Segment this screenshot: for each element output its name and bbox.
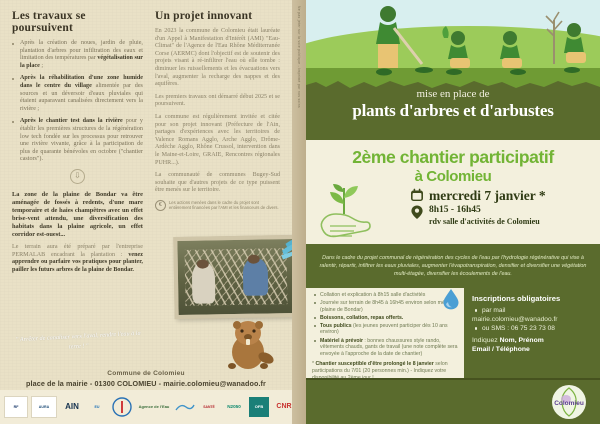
commune-name: Commune de Colomieu [0, 370, 292, 377]
context-paragraph: Dans le cadre du projet communal de régé… [316, 254, 590, 278]
poster: Les travaux se poursuivent Après la créa… [0, 0, 600, 424]
middle-paragraph: La communauté de communes Bugey-Sud souh… [155, 172, 280, 195]
logo-republique-francaise: RF [4, 396, 28, 418]
partner-logo-bar: RF AURA AIN EU Agence de l'Eau SANTÉ N20… [0, 390, 292, 424]
colomieu-logo: Colomieu [548, 382, 590, 422]
commune-contact: place de la mairie - 01300 COLOMIEU - ma… [0, 379, 292, 388]
registration-sms: ou SMS : 06 75 23 73 08 [472, 324, 594, 333]
middle-paragraph: La commune est régulièrement invitée et … [155, 114, 280, 167]
logo-bugey-sud [174, 397, 196, 417]
poster-spine: Ne pas jeter sur la voie publique - Impr… [292, 0, 306, 424]
photo-wrap [174, 236, 298, 318]
list-item: Matériel à prévoir : bonnes chaussures s… [312, 338, 458, 358]
funding-note-text: Les actions menées dans le cadre du proj… [169, 200, 280, 211]
registration-block: Inscriptions obligatoires par mail mairi… [464, 288, 600, 380]
banner-title-block: mise en place de plants d'arbres et d'ar… [306, 88, 600, 121]
left-column: Les travaux se poursuivent Après la créa… [6, 8, 151, 279]
event-time: 8h15 - 16h45 [429, 204, 540, 216]
registration-email[interactable]: mairie.colomieu@wanadoo.fr [472, 315, 594, 324]
logo-ain-departement: AIN [60, 397, 84, 417]
bondar-paragraph: La zone de la plaine de Bondar va être a… [12, 191, 143, 239]
registration-instructions: Indiquez Nom, Prénom Email / Téléphone [472, 336, 594, 354]
permalab-paragraph: Le terrain aura été préparé par l'entrep… [12, 244, 143, 274]
spine-text: Ne pas jeter sur la voie publique - Impr… [294, 6, 304, 108]
practical-info: Collation et explication à 8h15 salle d'… [306, 288, 464, 380]
beaver-illustration [222, 316, 274, 372]
page-title: 2ème chantier participatif à Colomieu [306, 140, 600, 186]
left-pane: Les travaux se poursuivent Après la créa… [0, 0, 292, 424]
euro-icon: € [155, 200, 166, 211]
left-column-bullets: Après la création de noues, jardin de pl… [12, 40, 143, 164]
logo-sante-environnement: SANTÉ [199, 397, 219, 417]
map-pin-icon [410, 204, 424, 220]
list-item: ou SMS : 06 75 23 73 08 [472, 324, 594, 333]
registration-title: Inscriptions obligatoires [472, 294, 594, 303]
event-date: mercredi 7 janvier * [429, 188, 546, 203]
list-item: Journée sur terrain de 8h45 à 16h45 envi… [312, 300, 458, 313]
logo-europe: EU [87, 397, 107, 417]
svg-text:Colomieu: Colomieu [554, 400, 584, 407]
list-item: Tous publics (les jeunes peuvent partici… [312, 323, 458, 336]
water-droplet-icon [442, 288, 460, 310]
handwritten-quote: " Arrêter de canaliser vers l'aval, rend… [16, 329, 142, 356]
indicate-name: Nom, Prénom [500, 337, 544, 344]
context-band: Dans le cadre du projet communal de régé… [306, 244, 600, 288]
logo-region-aura: AURA [31, 396, 57, 418]
indicate-prefix: Indiquez [472, 337, 500, 344]
tree-planting-illustration [306, 0, 600, 92]
logo-eau-rhone-mediterranee [110, 397, 134, 417]
event-details: mercredi 7 janvier * 8h15 - 16h45 rdv sa… [410, 188, 600, 227]
list-item: Boissons, collation, repas offerts. [312, 315, 458, 322]
left-column-title: Les travaux se poursuivent [12, 10, 143, 34]
headline-line1: 2ème chantier participatif [352, 147, 554, 167]
list-item: Après la réhabilitation d'une zone humid… [12, 75, 143, 113]
list-item: Après la création de noues, jardin de pl… [12, 40, 143, 70]
funding-note: € Les actions menées dans le cadre du pr… [155, 200, 280, 211]
calendar-icon [410, 188, 424, 202]
list-item: Après le chantier test dans la rivière p… [12, 118, 143, 164]
middle-paragraph: Les premiers travaux ont démarré début 2… [155, 94, 280, 109]
list-item: Collation et explication à 8h15 salle d'… [312, 292, 458, 299]
event-place: rdv salle d'activités de Colomieu [429, 216, 540, 227]
hand-holding-plant-icon [312, 182, 384, 244]
middle-column-title: Un projet innovant [155, 10, 280, 22]
logo-agence-eau: Agence de l'Eau [137, 397, 171, 417]
right-panel: Ne pas jeter sur la voie publique - Impr… [292, 0, 600, 424]
commune-address: Commune de Colomieu place de la mairie -… [0, 370, 292, 388]
logo-ofb: OFB [249, 397, 269, 417]
indicate-contact: Email / Téléphone [472, 346, 530, 353]
registration-methods: par mail [472, 306, 594, 315]
banner-subtitle: mise en place de [306, 88, 600, 100]
banner-main-title: plants d'arbres et d'arbustes [306, 101, 600, 121]
middle-paragraph: En 2023 la commune de Colomieu était lau… [155, 28, 280, 89]
logo-nature-2050: N2050 [222, 397, 246, 417]
down-arrow-icon: ⇩ [70, 169, 85, 184]
list-item: par mail [472, 306, 594, 315]
practical-info-list: Collation et explication à 8h15 salle d'… [312, 292, 458, 357]
